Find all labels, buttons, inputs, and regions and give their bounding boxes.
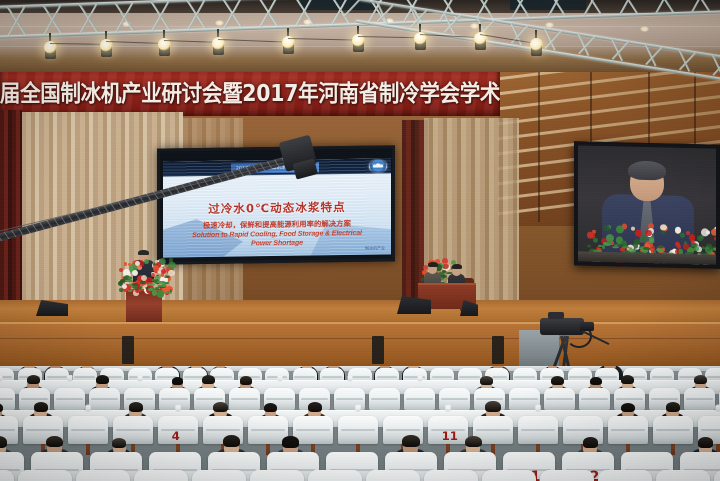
camera-hood <box>548 312 564 319</box>
audience-member-hair <box>465 436 482 448</box>
conference-banner: 第九届全国制冰机产业研讨会暨2017年河南省制冷学会学术年会 <box>0 66 500 116</box>
audience-member-hair <box>666 402 680 412</box>
audience-chair <box>229 388 260 410</box>
audience-chair <box>544 388 575 410</box>
podium-flower-arrangement <box>118 258 172 294</box>
water-cup <box>68 376 73 382</box>
audience-chair <box>308 470 362 481</box>
side-monitor-screen <box>578 145 716 264</box>
audience-member-hair <box>282 436 298 447</box>
audience-member-hair <box>480 376 493 385</box>
audience-chair <box>18 470 72 481</box>
audience-chair <box>250 470 304 481</box>
spotlight-yoke <box>49 33 51 41</box>
spotlight-yoke <box>287 28 289 36</box>
slide-footer-text: 制冰机产业 <box>365 245 385 251</box>
spotlight-yoke <box>163 30 165 38</box>
water-cup <box>138 376 143 382</box>
audience-chair: 4 <box>158 416 198 444</box>
audience-chair <box>54 388 85 410</box>
audience-seating-area: 4112191112 <box>0 366 720 481</box>
audience-member-hair <box>621 375 634 384</box>
banner-title: 第九届全国制冰机产业研讨会暨2017年河南省制冷学会学术年会 <box>0 74 500 108</box>
audience-chair <box>369 388 400 410</box>
water-cup <box>0 376 2 382</box>
water-cup <box>535 405 540 411</box>
audience-chair <box>424 470 478 481</box>
audience-member-hair <box>34 402 48 412</box>
audience-chair <box>404 388 435 410</box>
audience-member-hair <box>172 377 184 385</box>
auditorium-photo: 第九届全国制冰机产业研讨会暨2017年河南省制冷学会学术年会 2017年第九届全… <box>0 0 720 481</box>
slide-subtitle-english: Solution to Rapid Cooling, Food Storage … <box>163 228 391 249</box>
camera-body <box>540 318 584 335</box>
audience-chair: 11 <box>428 416 468 444</box>
chair-seat-number: 4 <box>172 429 180 443</box>
audience-member-hair <box>264 403 277 412</box>
audience-chair <box>439 388 470 410</box>
audience-member-hair <box>698 437 713 448</box>
audience-member-hair <box>694 375 707 384</box>
audience-member-hair <box>621 403 635 413</box>
audience-chair <box>366 470 420 481</box>
audience-member-hair <box>485 401 500 412</box>
audience-chair <box>608 416 648 444</box>
audience-member-hair <box>96 375 109 384</box>
water-cup <box>715 405 720 411</box>
audience-member-hair <box>240 376 253 385</box>
audience-chair <box>684 388 715 410</box>
audience-chair <box>518 416 558 444</box>
audience-member-hair <box>129 402 143 412</box>
water-cup <box>278 376 283 382</box>
audience-member-hair <box>223 435 240 447</box>
stage-curtain-red-left <box>0 110 22 320</box>
audience-chair <box>192 470 246 481</box>
spotlight-yoke <box>419 24 421 32</box>
audience-chair <box>540 470 594 481</box>
audience-member-hair <box>0 436 7 448</box>
audience-member-hair <box>551 376 564 385</box>
water-cup <box>85 405 90 411</box>
spotlight-yoke <box>479 24 481 32</box>
spotlight-yoke <box>535 30 537 38</box>
spotlight-yoke <box>217 29 219 37</box>
video-podium <box>578 251 716 264</box>
water-cup <box>355 405 360 411</box>
audience-member-hair <box>213 402 228 412</box>
video-speaker-hair <box>628 161 666 181</box>
audience-member-hair <box>590 377 602 385</box>
audience-chair <box>293 416 333 444</box>
audience-member-hair <box>46 436 63 448</box>
audience-chair <box>598 470 652 481</box>
water-cup <box>175 405 180 411</box>
spotlight-yoke <box>105 31 107 39</box>
audience-member-hair <box>202 375 215 384</box>
audience-member-hair <box>308 402 322 412</box>
water-cup <box>348 376 353 382</box>
podium-speaker-hair <box>138 250 149 255</box>
audience-member-hair <box>112 438 127 448</box>
audience-member-hair <box>583 437 598 447</box>
water-cup <box>418 376 423 382</box>
slide-title: 过冷水0℃动态冰浆特点 <box>163 198 391 217</box>
audience-chair <box>579 388 610 410</box>
spotlight <box>530 38 543 51</box>
audience-chair <box>68 416 108 444</box>
water-cup <box>445 405 450 411</box>
side-monitor <box>574 141 720 269</box>
audience-member-hair <box>27 375 40 384</box>
audience-member-hair <box>402 435 419 447</box>
presentation-slide: 2017年第九届全国制冰机产业研讨会 过冷水0℃动态冰浆特点 极速冷却，保鲜和提… <box>163 158 391 257</box>
spotlight-yoke <box>357 26 359 34</box>
audience-chair <box>76 470 130 481</box>
audience-chair <box>134 470 188 481</box>
audience-chair <box>482 470 536 481</box>
audience-chair <box>89 388 120 410</box>
audience-chair <box>653 416 693 444</box>
audience-chair <box>656 470 710 481</box>
audience-chair <box>338 416 378 444</box>
chair-seat-number: 11 <box>442 429 458 443</box>
